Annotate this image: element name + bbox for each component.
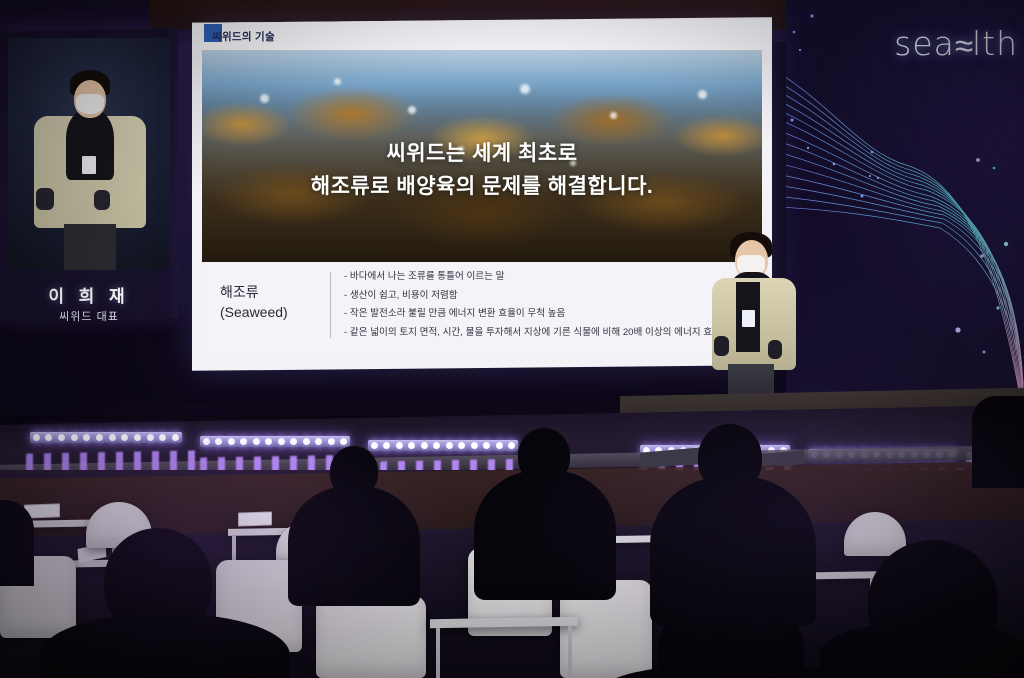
photo-bokeh [610, 112, 617, 119]
slide-bullet: 작은 발전소라 불릴 만큼 에너지 변환 효율이 무척 높음 [344, 309, 754, 319]
audience-member-silhouette [972, 396, 1024, 488]
led-bar [368, 440, 518, 451]
slide-header-bar: 씨위드의 기술 [192, 20, 772, 50]
fiber-flow-graphic [786, 0, 1024, 420]
speaker-badge [82, 156, 96, 174]
slide-term: 해조류 (Seaweed) [220, 282, 324, 323]
speaker-name: 이 희 재 [0, 282, 178, 307]
audience-chair [316, 596, 426, 678]
speaker-figure-closeup [8, 38, 170, 270]
slide-body-panel: 해조류 (Seaweed) 바다에서 나는 조류를 통틀어 이르는 말 생산이 … [202, 262, 762, 358]
led-bar [200, 436, 350, 447]
photo-bokeh [520, 84, 530, 94]
brand-logo-right: lth [972, 24, 1018, 63]
presenter-right-hand [768, 340, 782, 359]
photo-bokeh [408, 106, 416, 114]
speaker-legs [64, 224, 116, 270]
conference-stage-scene: sea≈lth 이 희 재 씨위드 대표 [0, 0, 1024, 678]
slide-headline-line1: 씨위드는 세계 최초로 [202, 138, 762, 171]
table-name-card [238, 511, 272, 526]
right-led-wall: sea≈lth [786, 0, 1024, 420]
photo-bokeh [334, 78, 341, 85]
speaker-face-mask [76, 94, 104, 114]
slide-term-korean: 해조류 [220, 282, 324, 302]
slide-bullet-list: 바다에서 나는 조류를 통틀어 이르는 말 생산이 쉽고, 비용이 저렴함 작은… [344, 272, 754, 346]
slide-tag-label: 씨위드의 기술 [212, 29, 275, 44]
speaker-right-hand [94, 190, 110, 210]
slide-photo: 씨위드는 세계 최초로 해조류로 배양육의 문제를 해결합니다. [202, 50, 762, 262]
slide-bullet: 바다에서 나는 조류를 통틀어 이르는 말 [344, 272, 754, 282]
brand-logo-wave-icon: ≈ [955, 26, 972, 65]
presentation-slide: 씨위드의 기술 씨위드는 세계 최초로 해조류로 배양육의 문제를 해결합니다. [192, 17, 772, 371]
led-bar [30, 432, 182, 443]
audience-member-silhouette [0, 500, 34, 586]
speaker-role: 씨위드 대표 [0, 308, 178, 324]
brand-logo: sea≈lth [894, 24, 1018, 63]
slide-bullet: 생산이 쉽고, 비용이 저렴함 [344, 291, 754, 301]
photo-bokeh [698, 90, 707, 99]
speaker-video-feed [8, 38, 170, 270]
presenter-left-hand [714, 336, 729, 356]
on-stage-presenter [700, 228, 810, 403]
presenter-badge [742, 310, 755, 327]
brand-logo-left: sea [894, 24, 955, 63]
slide-headline: 씨위드는 세계 최초로 해조류로 배양육의 문제를 해결합니다. [202, 138, 762, 203]
slide-headline-line2: 해조류로 배양육의 문제를 해결합니다. [202, 171, 762, 204]
slide-bullet: 같은 넓이의 토지 면적, 시간, 물을 투자해서 지상에 기른 식물에 비해 … [344, 328, 754, 338]
slide-vertical-divider [330, 272, 331, 338]
speaker-camera-panel: 이 희 재 씨위드 대표 [0, 28, 178, 321]
speaker-left-hand [36, 188, 54, 210]
slide-term-english: (Seaweed) [220, 302, 324, 322]
photo-bokeh [260, 94, 269, 103]
